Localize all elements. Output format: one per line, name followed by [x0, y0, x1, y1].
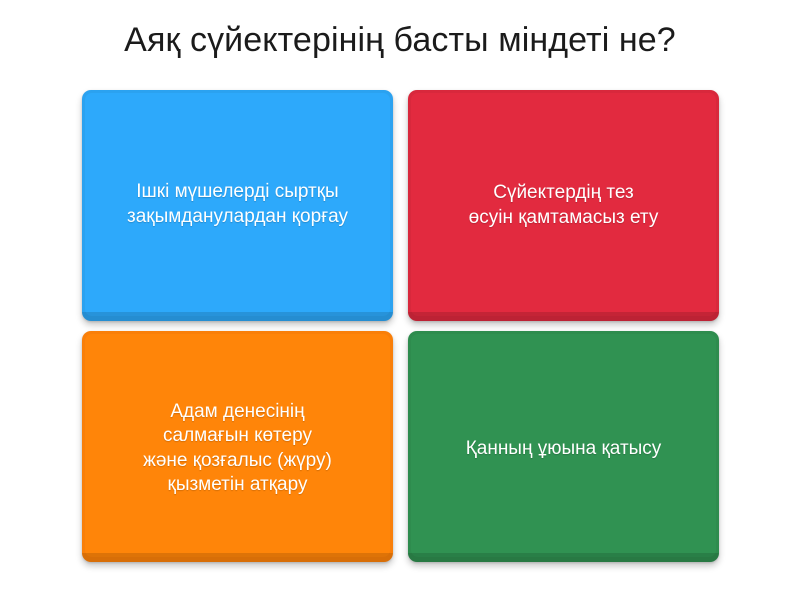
question-title: Аяқ сүйектерінің басты міндеті не? — [0, 18, 800, 62]
answer-option-b[interactable]: Сүйектердің тез өсуін қамтамасыз ету — [408, 90, 719, 321]
answer-option-d-label: Қанның ұюына қатысу — [466, 437, 662, 462]
answer-options-grid: Ішкі мүшелерді сыртқы зақымданулардан қо… — [82, 90, 719, 562]
answer-option-a-label: Ішкі мүшелерді сыртқы зақымданулардан қо… — [127, 180, 348, 229]
quiz-slide: Аяқ сүйектерінің басты міндеті не? Ішкі … — [0, 0, 800, 600]
answer-option-d[interactable]: Қанның ұюына қатысу — [408, 331, 719, 562]
answer-option-a[interactable]: Ішкі мүшелерді сыртқы зақымданулардан қо… — [82, 90, 393, 321]
answer-option-b-label: Сүйектердің тез өсуін қамтамасыз ету — [469, 181, 659, 230]
answer-option-c-label: Адам денесінің салмағын көтеру және қозғ… — [143, 400, 332, 498]
answer-option-c[interactable]: Адам денесінің салмағын көтеру және қозғ… — [82, 331, 393, 562]
